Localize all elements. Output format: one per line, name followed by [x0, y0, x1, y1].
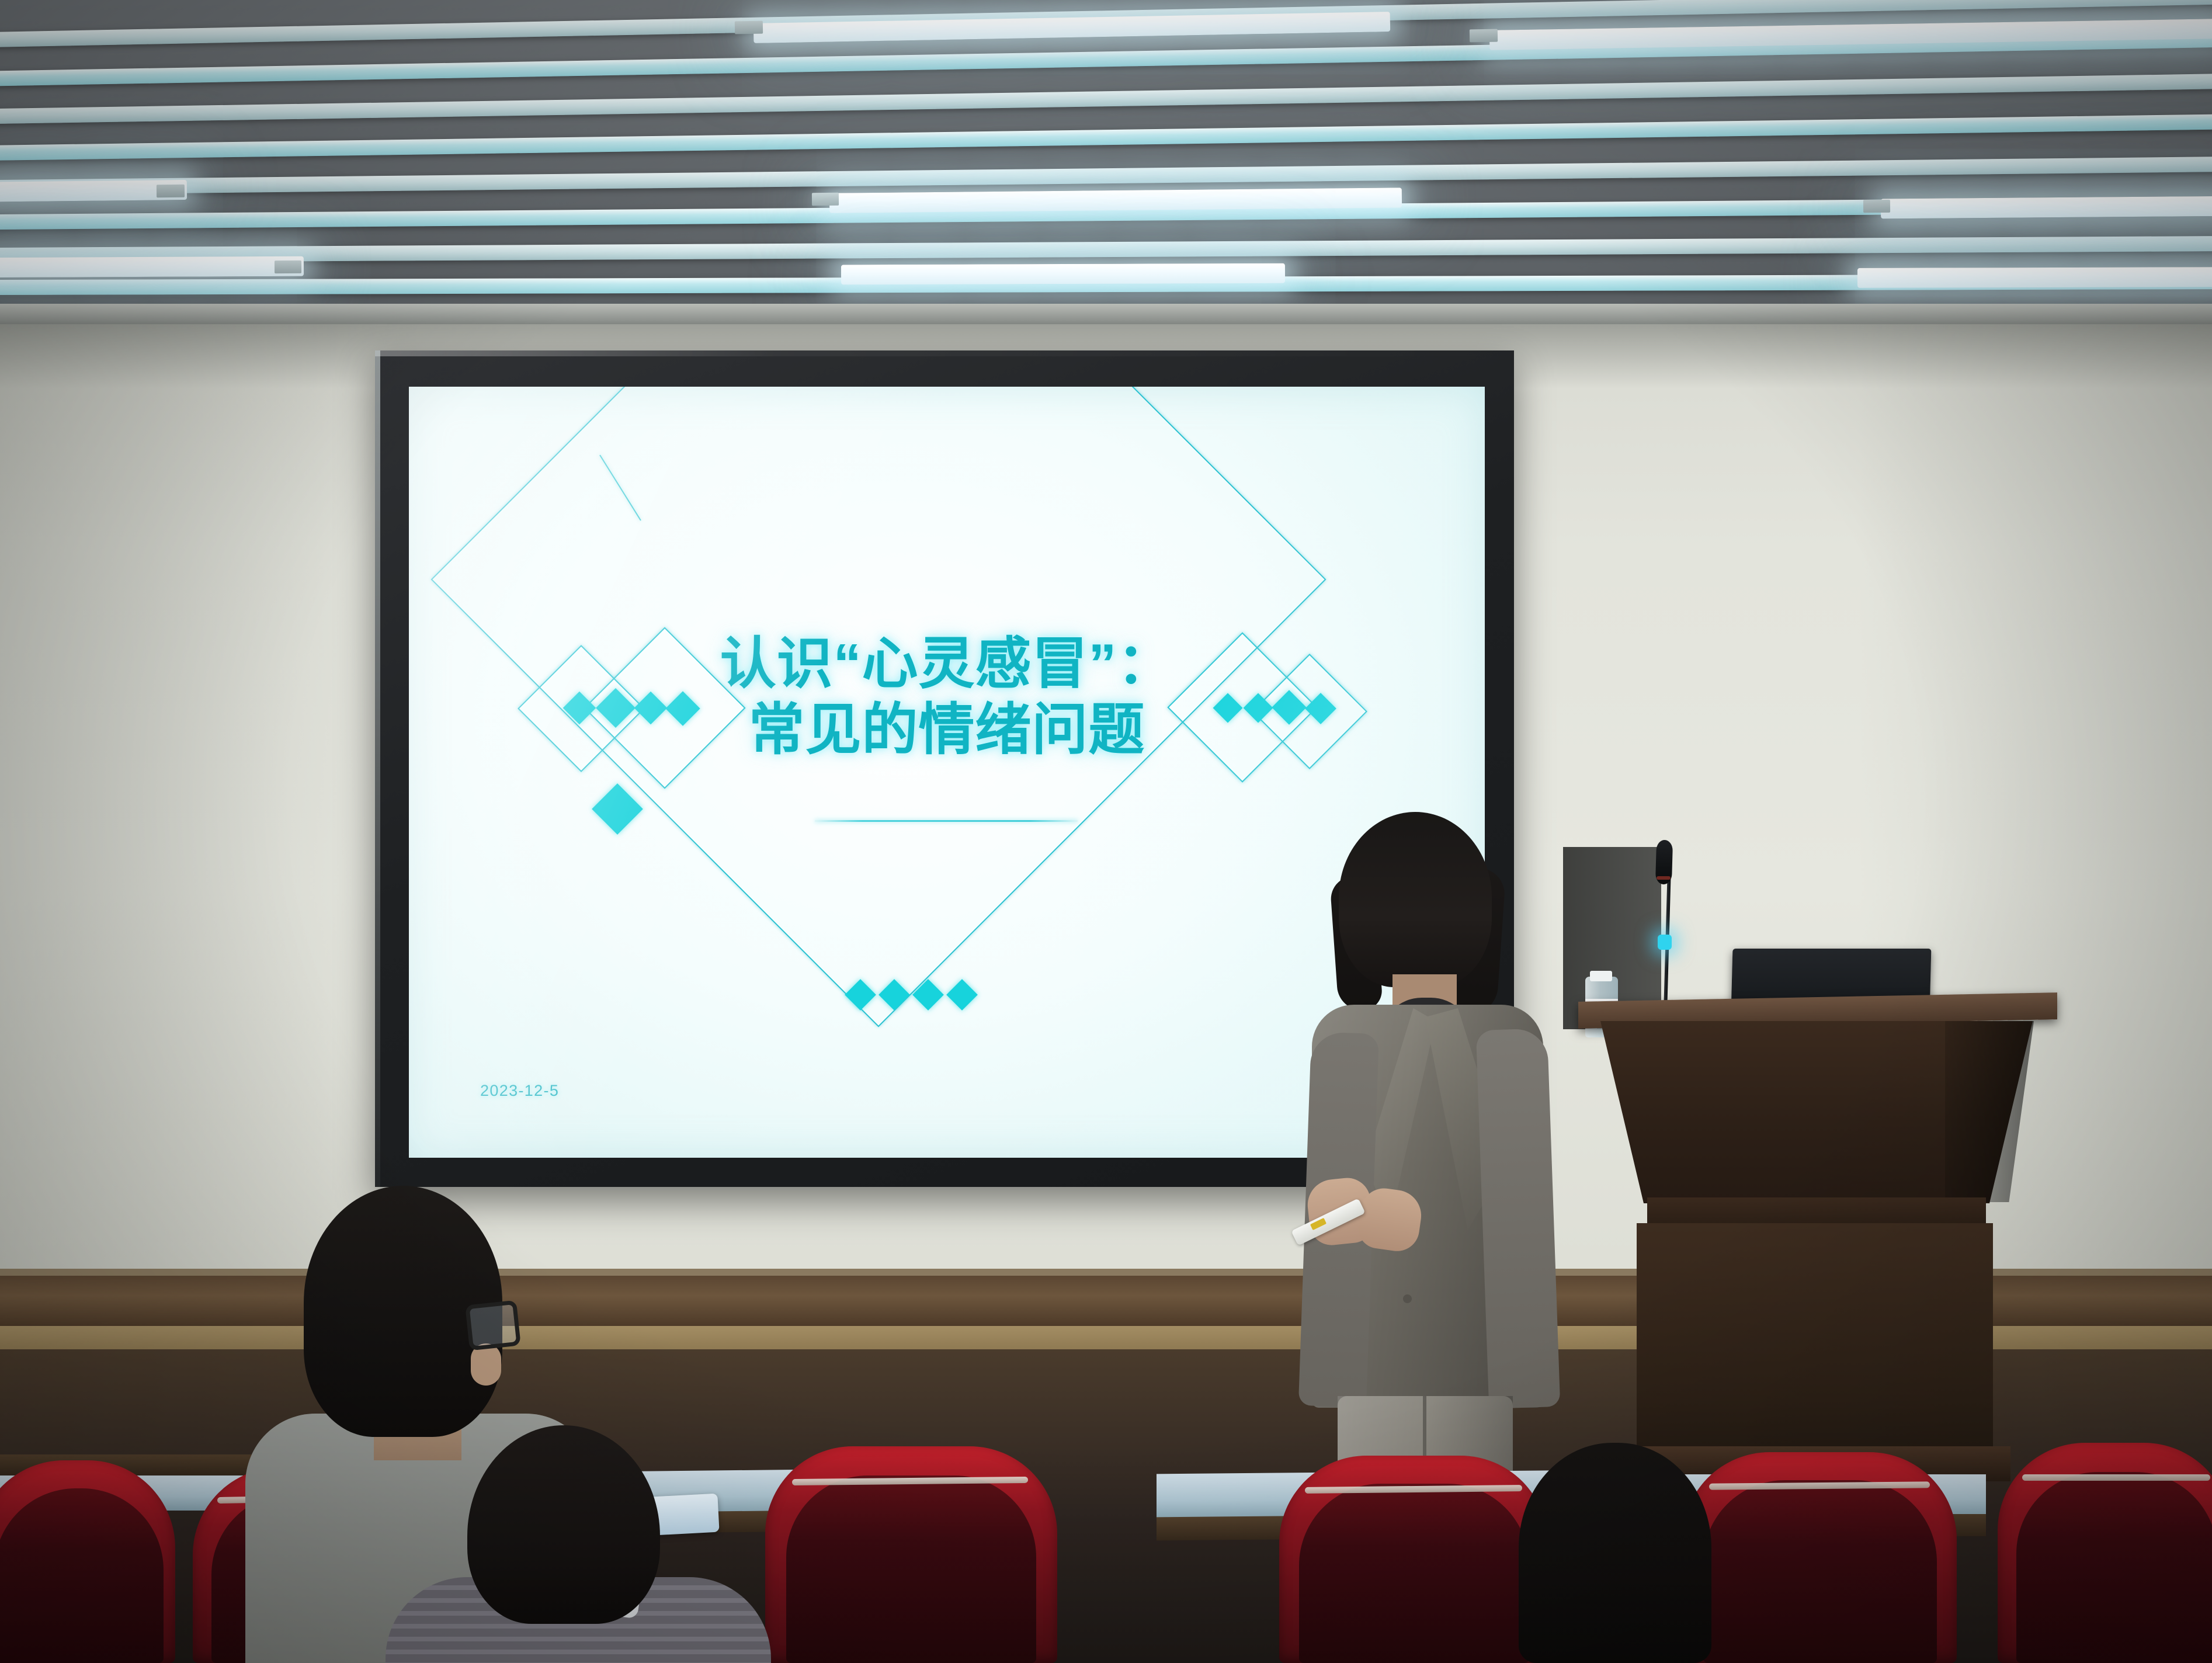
slide-title: 认识“心灵感冒”： 常见的情绪问题: [409, 631, 1485, 763]
presenter-hair: [1339, 812, 1492, 987]
audience-member-long-hair: [1519, 1443, 1711, 1663]
blazer-button: [1403, 1294, 1412, 1303]
slide-date: 2023-12-5: [480, 1082, 559, 1100]
presenter-arm-right: [1476, 1028, 1561, 1409]
slide-title-line-2: 常见的情绪问题: [409, 697, 1485, 763]
auditorium-chair-seatback: [786, 1475, 1036, 1663]
auditorium-chair-seatback: [2016, 1472, 2212, 1663]
tube-light-endcap: [275, 261, 301, 273]
ceiling-baffle: [0, 235, 2212, 263]
slide-title-line-1: 认识“心灵感冒”：: [409, 631, 1485, 697]
solo-filled-diamond: [592, 783, 643, 835]
podium-neck: [1647, 1197, 1986, 1227]
screen-frame-edge: [375, 350, 380, 1187]
water-bottle-cap: [1590, 971, 1612, 981]
fluorescent-tube-light: [841, 263, 1285, 285]
tube-light-endcap: [735, 21, 763, 34]
eyeglasses-icon: [465, 1300, 521, 1351]
auditorium-chair-seatback: [1703, 1480, 1937, 1663]
auditorium-chair-seatback: [0, 1488, 164, 1663]
ceiling-baffle: [0, 72, 2212, 125]
fluorescent-tube-light: [1881, 196, 2212, 219]
tube-light-endcap: [812, 193, 839, 206]
fluorescent-tube-light: [0, 256, 304, 278]
tube-light-endcap: [157, 185, 185, 198]
auditorium-chair-seatback: [1299, 1484, 1529, 1663]
chair-piping: [2022, 1474, 2210, 1481]
microphone-ring: [1657, 876, 1671, 880]
screen-frame-highlight: [375, 350, 1514, 356]
bottom-small-diamond-4: [946, 979, 978, 1011]
ceiling: [0, 0, 2212, 327]
ceiling-baffle: [0, 156, 2212, 196]
podium-base: [1637, 1223, 1993, 1474]
microphone-led-indicator: [1658, 935, 1672, 950]
tube-light-endcap: [1470, 29, 1498, 43]
fluorescent-tube-light: [1857, 267, 2212, 288]
lecture-hall-photo: 认识“心灵感冒”： 常见的情绪问题 2023-12-5: [0, 0, 2212, 1663]
tube-light-endcap: [1863, 200, 1890, 213]
ceiling-baffle: [0, 113, 2212, 162]
title-underline: [815, 820, 1078, 822]
